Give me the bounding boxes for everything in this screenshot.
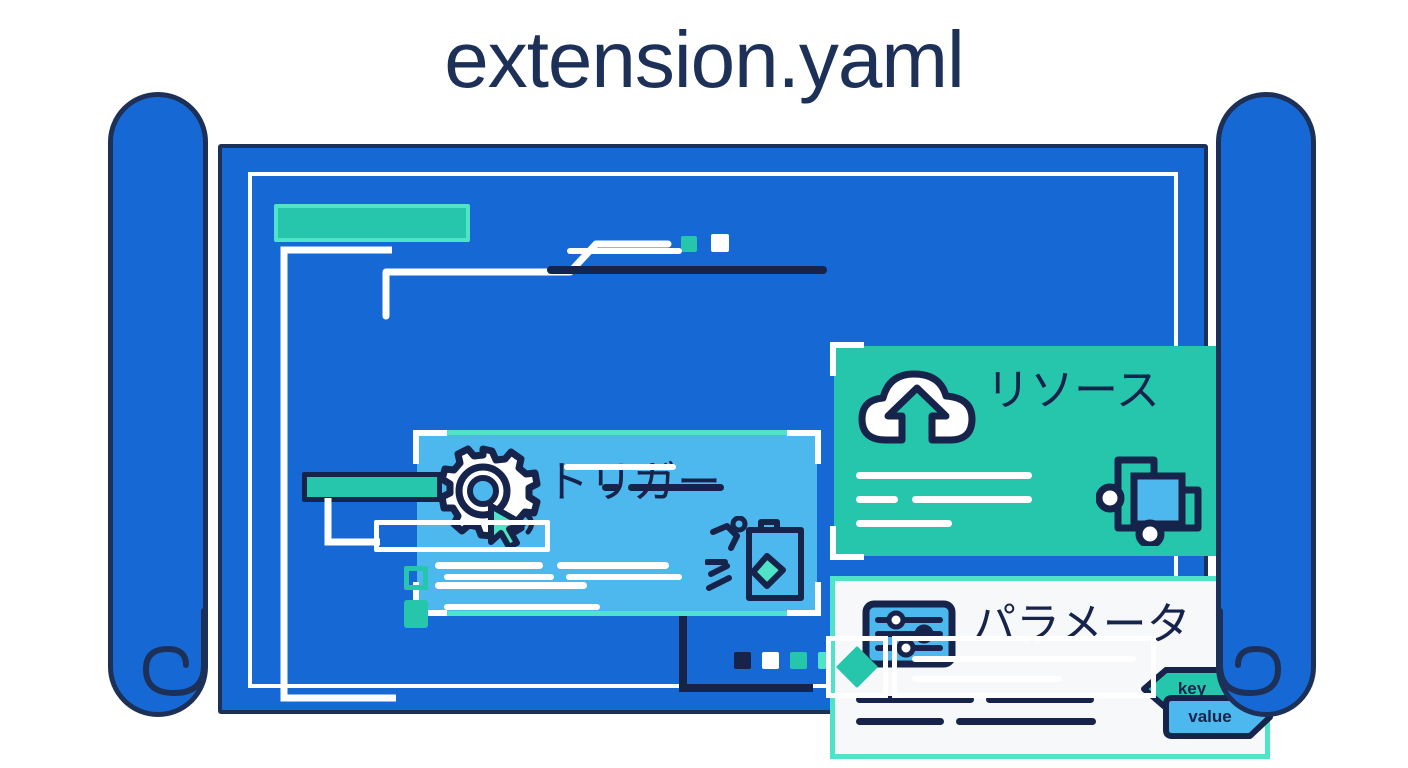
- cloud-upload-icon: [856, 364, 980, 450]
- blueprint-scroll: トリガー: [108, 92, 1316, 717]
- summary-tile-box[interactable]: [892, 636, 1156, 698]
- teal-diamond-icon: [836, 646, 878, 688]
- decor-line-navy: [602, 484, 620, 491]
- corner-bracket-icon: [830, 526, 864, 560]
- panel-text-line: [856, 472, 1032, 479]
- decor-line: [444, 574, 554, 580]
- panel-resources[interactable]: リソース: [834, 346, 1266, 556]
- outlined-field-box[interactable]: [374, 520, 550, 552]
- scroll-spiral-icon: [108, 607, 208, 717]
- summary-line: [912, 656, 1136, 662]
- corner-bracket-icon: [787, 430, 821, 464]
- connector-line-icon: [382, 200, 682, 320]
- blueprint-sheet: トリガー: [218, 144, 1208, 714]
- scroll-roll-left: [108, 92, 208, 717]
- scroll-spiral-icon: [1216, 607, 1316, 717]
- page-title: extension.yaml: [0, 16, 1408, 104]
- panel-text-line: [856, 520, 952, 527]
- marker-square-white: [711, 234, 729, 252]
- decor-line: [567, 248, 682, 254]
- node-graph-icon: [1096, 446, 1206, 546]
- panel-edge-accent: [830, 576, 1270, 581]
- panel-text-line: [557, 562, 669, 569]
- panel-edge-accent: [417, 430, 817, 435]
- running-clipboard-icon: [705, 516, 811, 606]
- panel-text-line: [856, 718, 944, 725]
- summary-line: [912, 676, 1062, 682]
- decor-line-navy: [628, 484, 724, 491]
- swatch-teal: [790, 652, 807, 669]
- decor-line-navy: [547, 266, 827, 274]
- panel-edge-accent: [417, 611, 817, 616]
- checkbox-filled-square[interactable]: [404, 600, 428, 628]
- panel-text-line: [435, 582, 587, 589]
- decor-line: [566, 574, 682, 580]
- scroll-roll-right: [1216, 92, 1316, 717]
- panel-resources-label: リソース: [986, 368, 1160, 414]
- decor-line: [564, 464, 676, 470]
- checkbox-outline-square[interactable]: [404, 566, 428, 590]
- marker-square-teal: [681, 236, 697, 252]
- panel-edge-accent: [830, 754, 1270, 759]
- panel-text-line: [912, 496, 1032, 503]
- panel-text-line: [435, 562, 543, 569]
- swatch-white: [762, 652, 779, 669]
- decor-line: [444, 604, 600, 610]
- panel-text-line: [856, 496, 898, 503]
- swatch-navy: [734, 652, 751, 669]
- illustration-canvas: extension.yaml: [0, 0, 1408, 768]
- panel-text-line: [956, 718, 1096, 725]
